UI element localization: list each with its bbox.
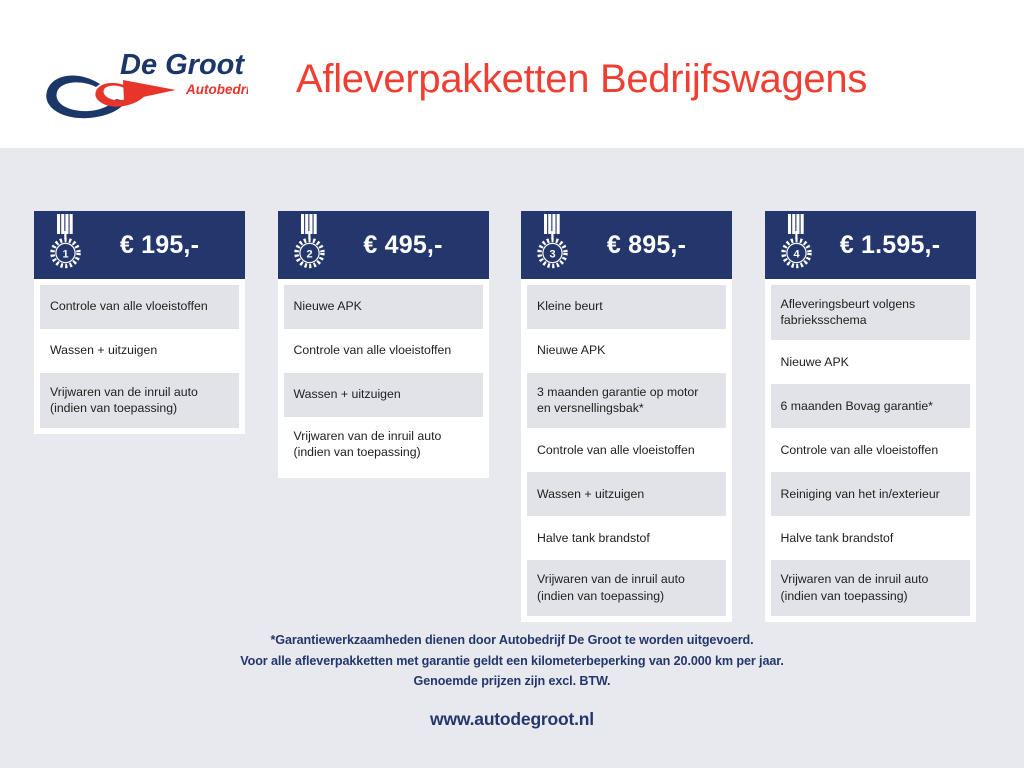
- footer: *Garantiewerkzaamheden dienen door Autob…: [0, 630, 1024, 730]
- footer-note-line: Genoemde prijzen zijn excl. BTW.: [0, 671, 1024, 692]
- package-card: 4€ 1.595,-Afleveringsbeurt volgensfabrie…: [765, 211, 976, 622]
- feature-list: Kleine beurtNieuwe APK3 maanden garantie…: [521, 279, 732, 616]
- feature-row: Afleveringsbeurt volgensfabrieksschema: [771, 285, 970, 340]
- feature-row: 3 maanden garantie op motoren versnellin…: [527, 373, 726, 428]
- page-title: Afleverpakketten Bedrijfswagens: [296, 57, 867, 102]
- feature-list: Afleveringsbeurt volgensfabrieksschemaNi…: [765, 279, 976, 616]
- feature-row: Controle van alle vloeistoffen: [284, 329, 483, 373]
- feature-label: Vrijwaren van de inruil auto(indien van …: [294, 428, 442, 460]
- package-card-header: 3€ 895,-: [521, 211, 732, 279]
- feature-list: Controle van alle vloeistoffenWassen + u…: [34, 279, 245, 428]
- medal-number: 2: [306, 249, 312, 261]
- package-card: 2€ 495,-Nieuwe APKControle van alle vloe…: [278, 211, 489, 478]
- feature-label: Controle van alle vloeistoffen: [50, 298, 208, 314]
- svg-text:De Groot: De Groot: [120, 49, 245, 81]
- feature-row: Nieuwe APK: [527, 329, 726, 373]
- feature-label: 3 maanden garantie op motoren versnellin…: [537, 384, 698, 416]
- feature-label: Vrijwaren van de inruil auto(indien van …: [50, 384, 198, 416]
- feature-row: Vrijwaren van de inruil auto(indien van …: [771, 560, 970, 615]
- feature-row: 6 maanden Bovag garantie*: [771, 384, 970, 428]
- package-price: € 1.595,-: [819, 231, 976, 260]
- feature-row: Wassen + uitzuigen: [527, 472, 726, 516]
- feature-label: Halve tank brandstof: [537, 530, 650, 546]
- website-url[interactable]: www.autodegroot.nl: [0, 709, 1024, 730]
- company-logo: De Groot Autobedrijf: [38, 44, 248, 122]
- feature-row: Halve tank brandstof: [527, 516, 726, 560]
- feature-row: Vrijwaren van de inruil auto(indien van …: [40, 373, 239, 428]
- medal-icon: 4: [775, 212, 819, 274]
- medal-number: 1: [62, 249, 68, 261]
- feature-label: Nieuwe APK: [537, 342, 605, 358]
- feature-row: Vrijwaren van de inruil auto(indien van …: [527, 560, 726, 615]
- feature-label: Vrijwaren van de inruil auto(indien van …: [781, 571, 929, 603]
- feature-row: Halve tank brandstof: [771, 516, 970, 560]
- package-card-header: 1€ 195,-: [34, 211, 245, 279]
- de-groot-swoosh-logo: De Groot Autobedrijf: [38, 44, 248, 122]
- package-cards: 1€ 195,-Controle van alle vloeistoffenWa…: [34, 211, 990, 622]
- feature-label: Reiniging van het in/exterieur: [781, 486, 940, 502]
- medal-number: 3: [549, 249, 555, 261]
- feature-label: Wassen + uitzuigen: [50, 342, 157, 358]
- feature-label: Vrijwaren van de inruil auto(indien van …: [537, 571, 685, 603]
- feature-label: Afleveringsbeurt volgensfabrieksschema: [781, 296, 916, 328]
- package-price: € 495,-: [332, 231, 489, 260]
- feature-row: Kleine beurt: [527, 285, 726, 329]
- header-band: De Groot Autobedrijf Afleverpakketten Be…: [0, 0, 1024, 148]
- feature-label: Kleine beurt: [537, 298, 603, 314]
- feature-row: Vrijwaren van de inruil auto(indien van …: [284, 417, 483, 472]
- feature-label: 6 maanden Bovag garantie*: [781, 398, 933, 414]
- medal-icon: 3: [531, 212, 575, 274]
- feature-row: Controle van alle vloeistoffen: [40, 285, 239, 329]
- medal-icon: 2: [288, 212, 332, 274]
- feature-label: Controle van alle vloeistoffen: [781, 442, 939, 458]
- footer-note-line: Voor alle afleverpakketten met garantie …: [0, 651, 1024, 672]
- package-card: 1€ 195,-Controle van alle vloeistoffenWa…: [34, 211, 245, 434]
- package-card-header: 2€ 495,-: [278, 211, 489, 279]
- poster-root: De Groot Autobedrijf Afleverpakketten Be…: [0, 0, 1024, 768]
- package-price: € 195,-: [88, 231, 245, 260]
- feature-label: Wassen + uitzuigen: [537, 486, 644, 502]
- medal-icon: 1: [44, 212, 88, 274]
- feature-label: Wassen + uitzuigen: [294, 386, 401, 402]
- feature-label: Nieuwe APK: [781, 354, 849, 370]
- feature-label: Nieuwe APK: [294, 298, 362, 314]
- feature-label: Controle van alle vloeistoffen: [294, 342, 452, 358]
- feature-row: Wassen + uitzuigen: [40, 329, 239, 373]
- feature-list: Nieuwe APKControle van alle vloeistoffen…: [278, 279, 489, 472]
- feature-label: Halve tank brandstof: [781, 530, 894, 546]
- footer-note-line: *Garantiewerkzaamheden dienen door Autob…: [0, 630, 1024, 651]
- feature-row: Nieuwe APK: [771, 340, 970, 384]
- feature-label: Controle van alle vloeistoffen: [537, 442, 695, 458]
- feature-row: Controle van alle vloeistoffen: [527, 428, 726, 472]
- feature-row: Controle van alle vloeistoffen: [771, 428, 970, 472]
- feature-row: Wassen + uitzuigen: [284, 373, 483, 417]
- package-card: 3€ 895,-Kleine beurtNieuwe APK3 maanden …: [521, 211, 732, 622]
- feature-row: Nieuwe APK: [284, 285, 483, 329]
- medal-number: 4: [793, 249, 800, 261]
- package-card-header: 4€ 1.595,-: [765, 211, 976, 279]
- package-price: € 895,-: [575, 231, 732, 260]
- svg-text:Autobedrijf: Autobedrijf: [185, 82, 248, 97]
- feature-row: Reiniging van het in/exterieur: [771, 472, 970, 516]
